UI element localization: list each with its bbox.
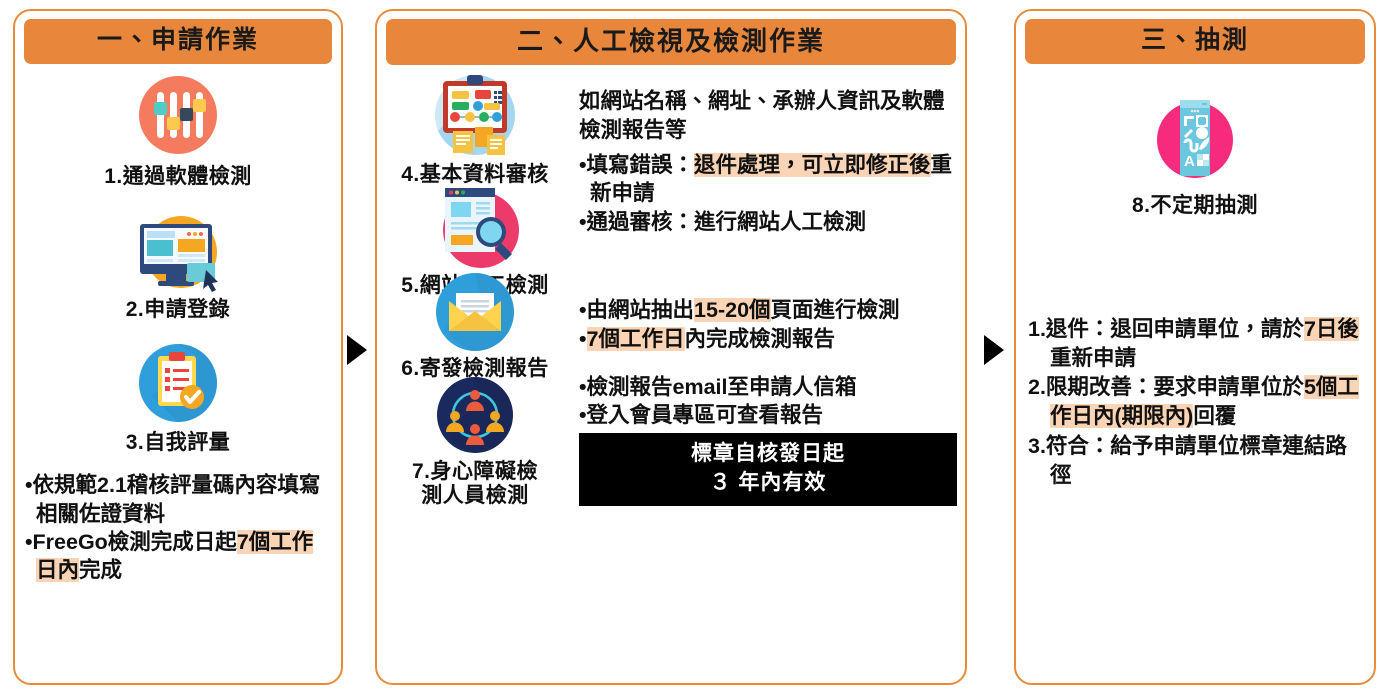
plain-text: 內完成檢測報告 — [685, 327, 836, 351]
step-6-row: 6.寄發檢測報告 •由網站抽出15-20個頁面進行檢測•7個工作日內完成檢測報告 — [377, 269, 965, 382]
step-7-row: 7.身心障礙檢測人員檢測 •檢測報告email至申請人信箱•登入會員專區可查看報… — [377, 372, 965, 510]
step-7-left: 7.身心障礙檢測人員檢測 — [377, 372, 573, 510]
highlighted-text: 15-20個 — [694, 298, 771, 322]
stage-3-outcome-list: 1.退件：退回申請單位，請於7日後重新申請2.限期改善：要求申請單位於5個工作日… — [1028, 315, 1364, 490]
highlighted-text: 退件處理，可立即修正後 — [694, 153, 931, 177]
plain-text: •FreeGo檢測完成日起 — [25, 530, 237, 554]
step-7-bullet: •登入會員專區可查看報告 — [579, 402, 957, 430]
step-7-right: •檢測報告email至申請人信箱•登入會員專區可查看報告 標章自核發日起 ３ 年… — [573, 372, 965, 507]
step-4-bullet: •通過審核：進行網站人工檢測 — [579, 209, 957, 237]
plain-text: •由網站抽出 — [579, 298, 694, 322]
stage-3-outcome-item: 2.限期改善：要求申請單位於5個工作日內(期限內)回覆 — [1028, 373, 1364, 431]
step-1-label: 1.通過軟體檢測 — [15, 165, 341, 190]
flow-arrow-1-icon — [347, 335, 367, 365]
stage-card-review: 二、人工檢視及檢測作業 — [375, 9, 967, 685]
step-8-label: 8.不定期抽測 — [1016, 194, 1374, 219]
step-6-bullet: •7個工作日內完成檢測報告 — [579, 326, 957, 354]
stage-1-body: 1.通過軟體檢測 — [15, 64, 341, 683]
stage-2-header: 二、人工檢視及檢測作業 — [386, 19, 956, 65]
plain-text: •填寫錯誤： — [579, 153, 694, 177]
seal-validity-line-2: ３ 年內有效 — [583, 469, 953, 497]
step-4-bullets: •填寫錯誤：退件處理，可立即修正後重新申請•通過審核：進行網站人工檢測 — [579, 152, 957, 237]
step-6-left: 6.寄發檢測報告 — [377, 269, 573, 382]
seal-validity-callout: 標章自核發日起 ３ 年內有效 — [579, 433, 957, 506]
step-6-bullets: •由網站抽出15-20個頁面進行檢測•7個工作日內完成檢測報告 — [579, 297, 957, 354]
stage-3-header: 三、抽測 — [1025, 19, 1365, 64]
step-2-label: 2.申請登錄 — [15, 298, 341, 323]
plain-text: 2.限期改善：要求申請單位於 — [1028, 375, 1304, 399]
envelope-icon — [432, 269, 518, 355]
plain-text: 3.符合：給予申請單位標章連結路徑 — [1028, 434, 1347, 487]
seal-validity-line-1: 標章自核發日起 — [583, 440, 953, 468]
plain-text: 頁面進行檢測 — [771, 298, 900, 322]
step-1: 1.通過軟體檢測 — [15, 73, 341, 190]
flow-arrow-2-icon — [984, 335, 1004, 365]
step-7-bullets: •檢測報告email至申請人信箱•登入會員專區可查看報告 — [579, 374, 957, 431]
plain-text: 完成 — [79, 558, 122, 582]
step-4-bullet: •填寫錯誤：退件處理，可立即修正後重新申請 — [579, 152, 957, 208]
plain-text: 1.退件：退回申請單位，請於 — [1028, 317, 1304, 341]
design-toolbar-icon: A — [1016, 92, 1374, 184]
plain-text: •通過審核：進行網站人工檢測 — [579, 210, 866, 234]
plain-text: • — [579, 327, 587, 351]
step-4-paragraph: 如網站名稱、網址、承辦人資訊及軟體檢測報告等 — [579, 87, 957, 144]
stage-2-body: 4.基本資料審核 如網站名稱、網址、承辦人資訊及軟體檢測報告等 •填寫錯誤：退件… — [377, 65, 965, 683]
step-6-bullet: •由網站抽出15-20個頁面進行檢測 — [579, 297, 957, 325]
step-4-left: 4.基本資料審核 — [377, 69, 573, 188]
step-7-bullet: •檢測報告email至申請人信箱 — [579, 374, 957, 402]
plain-text: 重新申請 — [1050, 346, 1136, 370]
sliders-icon — [15, 73, 341, 157]
plain-text: 回覆 — [1193, 404, 1236, 428]
step-7-label: 7.身心障礙檢測人員檢測 — [412, 460, 538, 510]
page-search-icon — [429, 180, 521, 272]
accessibility-team-icon — [432, 372, 518, 458]
highlighted-text: 7個工作日 — [587, 327, 685, 351]
step-6-right: •由網站抽出15-20個頁面進行檢測•7個工作日內完成檢測報告 — [573, 269, 965, 355]
plain-text: •依規範2.1稽核評量碼內容填寫相關佐證資料 — [25, 473, 320, 525]
stage-1-header: 一、申請作業 — [24, 19, 332, 64]
stage-1-notes: •依規範2.1稽核評量碼內容填寫相關佐證資料•FreeGo檢測完成日起7個工作日… — [25, 471, 333, 585]
stage-1-note-item: •依規範2.1稽核評量碼內容填寫相關佐證資料 — [25, 471, 333, 528]
svg-text:A: A — [1184, 153, 1195, 170]
step-7-label-line: 測人員檢測 — [412, 484, 538, 509]
highlighted-text: 7日後 — [1304, 317, 1359, 341]
process-flow-diagram: 一、申請作業 1.通過軟體檢測 — [0, 0, 1390, 699]
stage-card-spotcheck: 三、抽測 A — [1014, 9, 1376, 685]
stage-3-outcome-item: 3.符合：給予申請單位標章連結路徑 — [1028, 432, 1364, 490]
step-7-label-line: 7.身心障礙檢 — [412, 460, 538, 485]
stage-1-note-item: •FreeGo檢測完成日起7個工作日內完成 — [25, 528, 333, 585]
monitor-icon — [15, 208, 341, 292]
stage-3-body: A 8.不定期抽測 1.退件：退回申請單位，請於7日後重新申請2.限期改善：要求… — [1016, 64, 1374, 683]
step-2: 2.申請登錄 — [15, 208, 341, 323]
step-4-right: 如網站名稱、網址、承辦人資訊及軟體檢測報告等 •填寫錯誤：退件處理，可立即修正後… — [573, 69, 965, 238]
clipboard-data-icon — [429, 69, 521, 161]
plain-text: •檢測報告email至申請人信箱 — [579, 375, 857, 399]
checklist-icon — [15, 341, 341, 425]
stage-card-application: 一、申請作業 1.通過軟體檢測 — [13, 9, 343, 685]
stage-3-outcome-item: 1.退件：退回申請單位，請於7日後重新申請 — [1028, 315, 1364, 373]
step-3-label: 3.自我評量 — [15, 431, 341, 456]
plain-text: •登入會員專區可查看報告 — [579, 403, 823, 427]
step-3: 3.自我評量 — [15, 341, 341, 456]
